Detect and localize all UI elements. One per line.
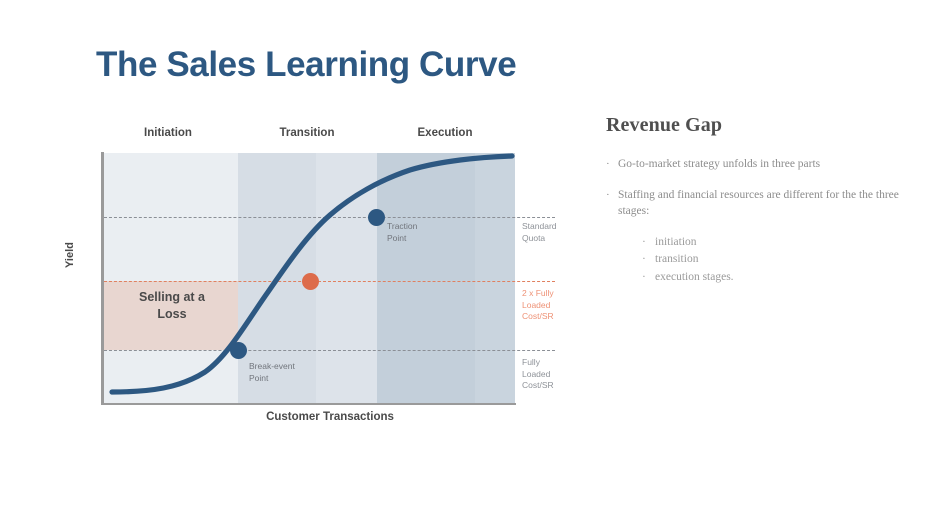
- list-item: · execution stages.: [642, 269, 906, 287]
- loss-label-line1: Selling at a: [110, 289, 234, 306]
- marker-traction-point[interactable]: [368, 209, 385, 226]
- x-axis-line: [101, 403, 516, 405]
- list-item: · initiation: [642, 234, 906, 252]
- fully-loaded-line1: Fully: [522, 357, 554, 369]
- bullet-text: Staffing and financial resources are dif…: [618, 187, 906, 220]
- phase-label-initiation: Initiation: [118, 127, 218, 139]
- bullet-dot-icon: ·: [642, 269, 655, 287]
- fully-loaded-line3: Cost/SR: [522, 380, 554, 392]
- sales-learning-curve-chart: Initiation Transition Execution Selling …: [0, 0, 600, 526]
- x-axis-title: Customer Transactions: [104, 411, 556, 423]
- reference-line-two-x-fully-loaded-cost: [104, 281, 555, 282]
- standard-quota-line1: Standard: [522, 221, 557, 233]
- bullet-dot-icon: ·: [642, 234, 655, 252]
- two-x-cost-line2: Loaded: [522, 300, 554, 312]
- loss-label-line2: Loss: [110, 306, 234, 323]
- band-transition-light: [316, 153, 377, 404]
- band-execution-light: [475, 153, 515, 404]
- traction-label-line2: Point: [387, 233, 417, 245]
- y-axis-line: [101, 152, 104, 405]
- break-even-label-line1: Break-event: [249, 361, 295, 373]
- list-item: · Go-to-market strategy unfolds in three…: [606, 156, 906, 173]
- two-x-cost-line3: Cost/SR: [522, 311, 554, 323]
- phase-label-execution: Execution: [395, 127, 495, 139]
- panel-heading: Revenue Gap: [606, 114, 906, 137]
- bullet-dot-icon: ·: [642, 251, 655, 269]
- revenue-gap-panel: Revenue Gap · Go-to-market strategy unfo…: [606, 114, 906, 286]
- sub-bullet-text: transition: [655, 251, 698, 269]
- sub-bullet-text: execution stages.: [655, 269, 734, 287]
- bullet-text: Go-to-market strategy unfolds in three p…: [618, 156, 906, 173]
- bullet-dot-icon: ·: [606, 156, 618, 173]
- marker-break-even-point[interactable]: [230, 342, 247, 359]
- list-item: · transition: [642, 251, 906, 269]
- standard-quota-line2: Quota: [522, 233, 557, 245]
- traction-label-line1: Traction: [387, 221, 417, 233]
- right-label-fully-loaded-cost: Fully Loaded Cost/SR: [522, 357, 554, 392]
- sub-bullet-list: · initiation · transition · execution st…: [642, 234, 906, 287]
- reference-line-standard-quota: [104, 217, 555, 218]
- right-label-two-x-fully-loaded-cost: 2 x Fully Loaded Cost/SR: [522, 288, 554, 323]
- traction-point-label: Traction Point: [387, 221, 417, 244]
- two-x-cost-line1: 2 x Fully: [522, 288, 554, 300]
- break-even-label-line2: Point: [249, 373, 295, 385]
- band-execution-dark: [377, 153, 475, 404]
- phase-label-transition: Transition: [257, 127, 357, 139]
- bullet-dot-icon: ·: [606, 187, 618, 220]
- selling-at-a-loss-label: Selling at a Loss: [110, 289, 234, 323]
- y-axis-title: Yield: [64, 242, 76, 268]
- right-label-standard-quota: Standard Quota: [522, 221, 557, 244]
- band-initiation: [104, 153, 238, 404]
- list-item: · Staffing and financial resources are d…: [606, 187, 906, 220]
- fully-loaded-line2: Loaded: [522, 369, 554, 381]
- reference-line-fully-loaded-cost: [104, 350, 555, 351]
- marker-two-x-cost-crossing[interactable]: [302, 273, 319, 290]
- break-even-point-label: Break-event Point: [249, 361, 295, 384]
- sub-bullet-text: initiation: [655, 234, 697, 252]
